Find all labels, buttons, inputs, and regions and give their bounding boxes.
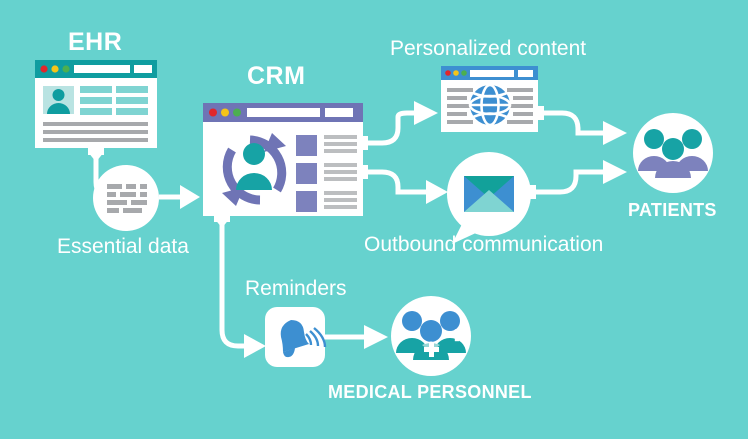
ehr-field [116,86,148,93]
arrow-to-outbound [426,180,448,204]
ehr-field [116,97,148,104]
essential-data-circle-bg [93,165,159,231]
label-personalized-content: Personalized content [390,38,586,59]
crm-maximize-dot-icon[interactable] [233,109,241,117]
essential-data-circle[interactable] [93,165,159,231]
label-patients: PATIENTS [628,201,717,219]
crm-list-line [324,149,357,153]
crm-minimize-dot-icon[interactable] [221,109,229,117]
envelope-icon [464,176,514,212]
ehr-avatar-head-icon [53,89,65,101]
arrow-to-personalized-content [414,101,438,125]
crm-list-thumb [296,191,317,212]
crm-address-bar[interactable] [247,108,320,117]
arrow-to-patients-upper [603,121,627,145]
crm-list-thumb [296,135,317,156]
crm-close-dot-icon[interactable] [209,109,217,117]
ehr-field [80,108,112,115]
pc-maximize-dot-icon[interactable] [461,70,467,76]
connector-content-to-patients-line [538,113,607,133]
crm-title-bar-button[interactable] [325,108,353,117]
connector-outbound-to-patients-line [530,172,607,192]
ehr-close-dot-icon[interactable] [40,65,47,72]
label-ehr: EHR [68,30,122,55]
crm-list-line [324,198,357,202]
connector-crm-to-outbound-line [363,172,430,192]
ehr-address-bar[interactable] [74,65,130,73]
crm-list-line [324,135,357,139]
personalized-content-window[interactable] [441,66,538,132]
crm-list-line [324,177,357,181]
arrow-to-patients-lower [603,160,627,184]
pc-address-bar[interactable] [470,70,514,77]
medical-personnel-circle[interactable] [391,296,471,376]
crm-list-line [324,170,357,174]
patients-circle[interactable] [633,113,713,193]
crm-person-head-icon [243,143,265,165]
label-medical-personnel: MEDICAL PERSONNEL [328,383,532,401]
arrow-to-crm [180,185,200,209]
crm-list-line [324,191,357,195]
ehr-text-line [43,122,148,126]
ehr-text-line [43,130,148,134]
crm-window[interactable] [203,103,363,216]
pc-close-dot-icon[interactable] [445,70,451,76]
nub-crm-bottom-point [214,218,230,228]
ehr-field [80,86,112,93]
pc-title-bar-button[interactable] [518,70,533,77]
globe-icon [470,85,510,125]
diagram-canvas: EHR CRM Personalized content Essential d… [0,0,748,439]
arrow-to-reminders [244,334,266,358]
label-essential-data: Essential data [57,236,189,257]
ehr-field [80,97,112,104]
arrow-to-medical-personnel [364,325,388,349]
crm-list-line [324,142,357,146]
ehr-maximize-dot-icon[interactable] [62,65,69,72]
connector-crm-to-personalized-content-line [363,113,418,143]
label-outbound-communication: Outbound communication [364,234,603,255]
crm-list-line [324,163,357,167]
crm-list-line [324,205,357,209]
label-reminders: Reminders [245,278,347,299]
label-crm: CRM [247,64,305,89]
ehr-minimize-dot-icon[interactable] [51,65,58,72]
ehr-title-bar-button[interactable] [134,65,152,73]
crm-list-thumb [296,163,317,184]
reminders-tile[interactable] [265,307,325,367]
ehr-window[interactable] [35,60,157,148]
ehr-field [116,108,148,115]
outbound-communication-bubble[interactable] [447,152,531,244]
ehr-text-line [43,138,148,142]
pc-minimize-dot-icon[interactable] [453,70,459,76]
nub-ehr-bottom-point [88,152,104,162]
